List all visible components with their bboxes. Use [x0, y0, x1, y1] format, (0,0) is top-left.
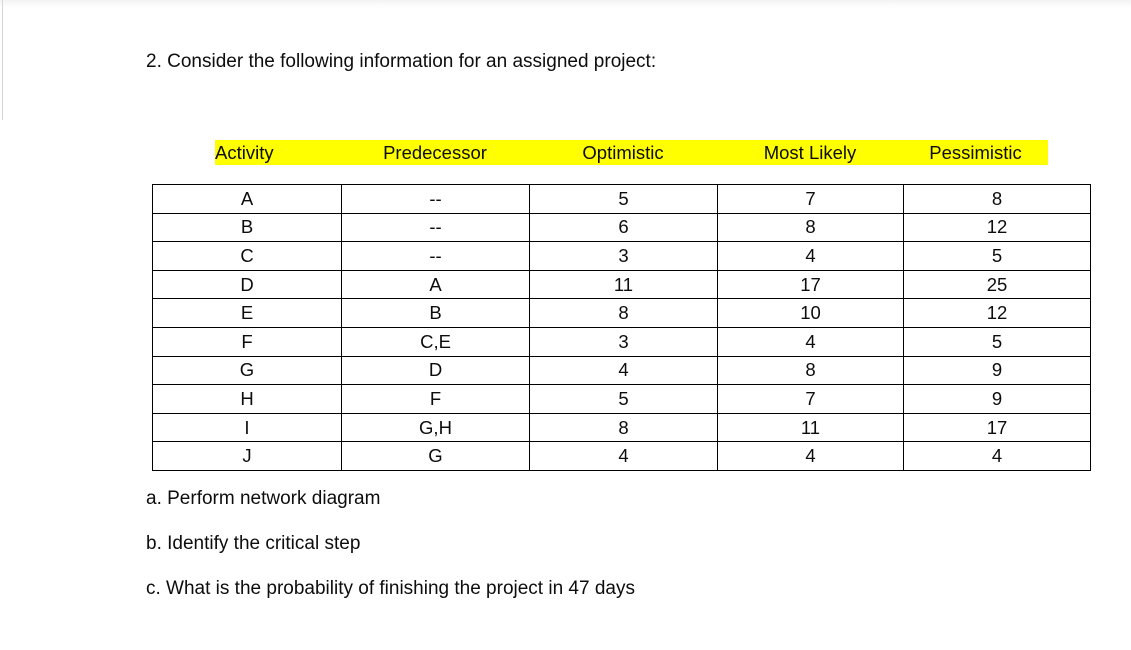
cell-most-likely: 17 — [718, 270, 904, 299]
cell-most-likely: 4 — [718, 242, 904, 271]
cell-optimistic: 11 — [530, 270, 718, 299]
question-intro-text: 2. Consider the following information fo… — [146, 49, 656, 75]
table-row: IG,H81117 — [153, 413, 1091, 442]
table-row: C--345 — [153, 242, 1091, 271]
table-row: EB81012 — [153, 299, 1091, 328]
activity-data-table: A--578B--6812C--345DA111725EB81012FC,E34… — [152, 184, 1091, 471]
cell-most-likely: 7 — [718, 185, 904, 214]
cell-optimistic: 5 — [530, 185, 718, 214]
cell-most-likely: 8 — [718, 213, 904, 242]
table-row: A--578 — [153, 185, 1091, 214]
cell-activity: E — [153, 299, 342, 328]
cell-most-likely: 8 — [718, 356, 904, 385]
cell-predecessor: -- — [342, 213, 530, 242]
cell-predecessor: G — [342, 442, 530, 471]
cell-activity: H — [153, 385, 342, 414]
sub-question-b: b. Identify the critical step — [146, 531, 360, 557]
cell-optimistic: 8 — [530, 413, 718, 442]
cell-predecessor: F — [342, 385, 530, 414]
cell-pessimistic: 25 — [904, 270, 1091, 299]
column-header-pessimistic: Pessimistic — [903, 140, 1048, 165]
cell-activity: B — [153, 213, 342, 242]
cell-predecessor: C,E — [342, 327, 530, 356]
cell-most-likely: 11 — [718, 413, 904, 442]
cell-predecessor: G,H — [342, 413, 530, 442]
cell-activity: C — [153, 242, 342, 271]
table-row: DA111725 — [153, 270, 1091, 299]
cell-activity: J — [153, 442, 342, 471]
cell-most-likely: 4 — [718, 327, 904, 356]
table-row: B--6812 — [153, 213, 1091, 242]
cell-activity: A — [153, 185, 342, 214]
sub-question-c: c. What is the probability of finishing … — [146, 576, 635, 602]
cell-activity: G — [153, 356, 342, 385]
worksheet-page: 2. Consider the following information fo… — [0, 0, 1131, 650]
cell-optimistic: 8 — [530, 299, 718, 328]
cell-predecessor: B — [342, 299, 530, 328]
table-row: JG444 — [153, 442, 1091, 471]
table-row: FC,E345 — [153, 327, 1091, 356]
cell-most-likely: 4 — [718, 442, 904, 471]
cell-optimistic: 3 — [530, 242, 718, 271]
cell-pessimistic: 17 — [904, 413, 1091, 442]
cell-predecessor: -- — [342, 185, 530, 214]
column-header-most-likely: Most Likely — [717, 140, 903, 165]
cell-activity: I — [153, 413, 342, 442]
column-header-activity: Activity — [215, 140, 341, 165]
cell-pessimistic: 5 — [904, 327, 1091, 356]
cell-most-likely: 10 — [718, 299, 904, 328]
cell-pessimistic: 12 — [904, 299, 1091, 328]
cell-activity: D — [153, 270, 342, 299]
table-row: HF579 — [153, 385, 1091, 414]
cell-optimistic: 5 — [530, 385, 718, 414]
column-header-predecessor: Predecessor — [341, 140, 529, 165]
table-row: GD489 — [153, 356, 1091, 385]
cell-pessimistic: 9 — [904, 356, 1091, 385]
cell-most-likely: 7 — [718, 385, 904, 414]
cell-optimistic: 4 — [530, 442, 718, 471]
cell-pessimistic: 5 — [904, 242, 1091, 271]
cell-optimistic: 4 — [530, 356, 718, 385]
column-header-optimistic: Optimistic — [529, 140, 717, 165]
cell-pessimistic: 4 — [904, 442, 1091, 471]
cell-pessimistic: 12 — [904, 213, 1091, 242]
cell-predecessor: A — [342, 270, 530, 299]
cell-predecessor: D — [342, 356, 530, 385]
cell-optimistic: 6 — [530, 213, 718, 242]
activity-table-body: A--578B--6812C--345DA111725EB81012FC,E34… — [153, 185, 1091, 471]
cell-pessimistic: 8 — [904, 185, 1091, 214]
cell-pessimistic: 9 — [904, 385, 1091, 414]
cell-optimistic: 3 — [530, 327, 718, 356]
sub-question-a: a. Perform network diagram — [146, 486, 380, 512]
cell-predecessor: -- — [342, 242, 530, 271]
cell-activity: F — [153, 327, 342, 356]
